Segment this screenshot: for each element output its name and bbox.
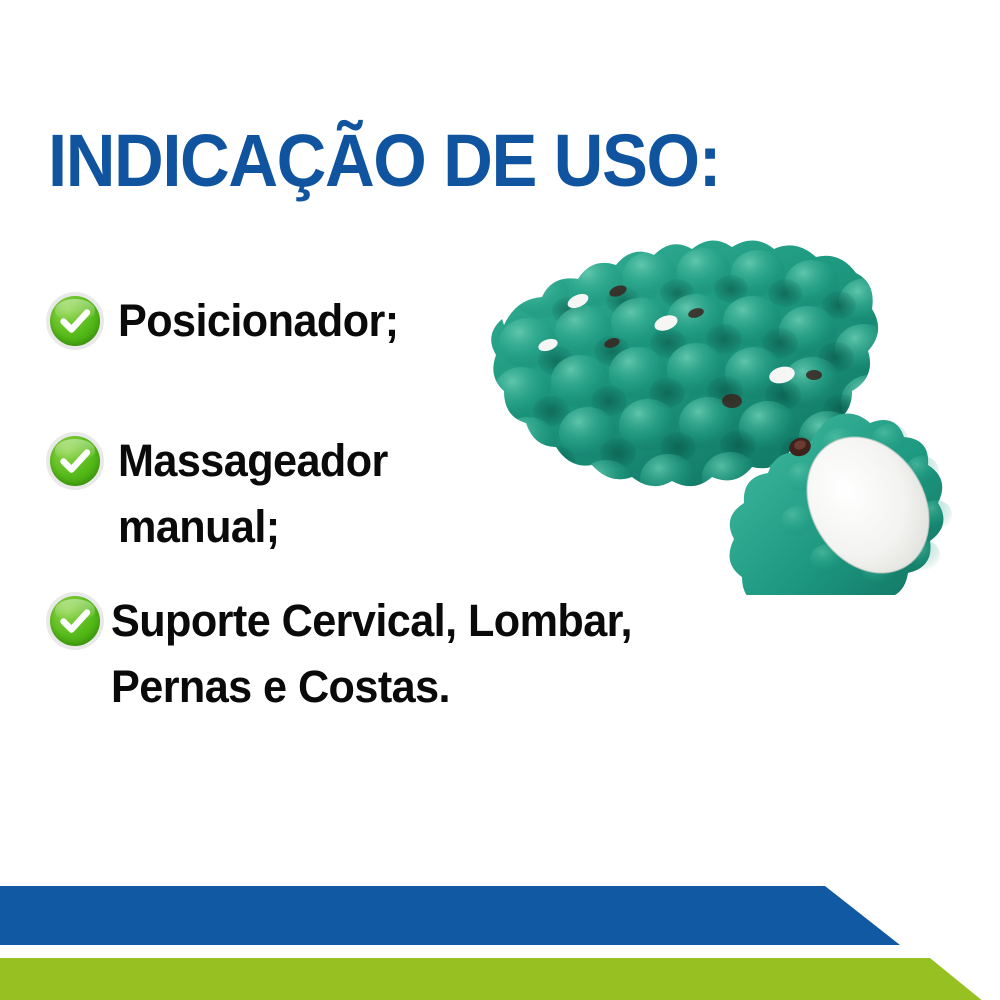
check-circle-icon [46,292,104,350]
footer-decorative-bars [0,875,1000,1000]
list-item-text: Massageador manual; [118,428,388,560]
list-item-line: Pernas e Costas. [111,654,632,720]
page-title: INDICAÇÃO DE USO: [48,122,720,200]
list-item-line: Posicionador; [118,288,399,354]
list-item-line: manual; [118,494,388,560]
check-circle-icon [46,432,104,490]
list-item-text: Suporte Cervical, Lombar, Pernas e Costa… [111,588,632,720]
infographic-canvas: INDICAÇÃO DE USO: Posicionador; [0,0,1000,1000]
list-item-text: Posicionador; [118,288,399,354]
list-item: Posicionador; [46,288,410,354]
list-item: Suporte Cervical, Lombar, Pernas e Costa… [46,588,654,720]
footer-bar-green [0,958,1000,1000]
footer-bar-blue [0,886,900,945]
list-item-line: Suporte Cervical, Lombar, [111,588,632,654]
list-item: Massageador manual; [46,428,399,560]
check-circle-icon [46,592,104,650]
product-photo-foam-roller [470,215,970,595]
list-item-line: Massageador [118,428,388,494]
